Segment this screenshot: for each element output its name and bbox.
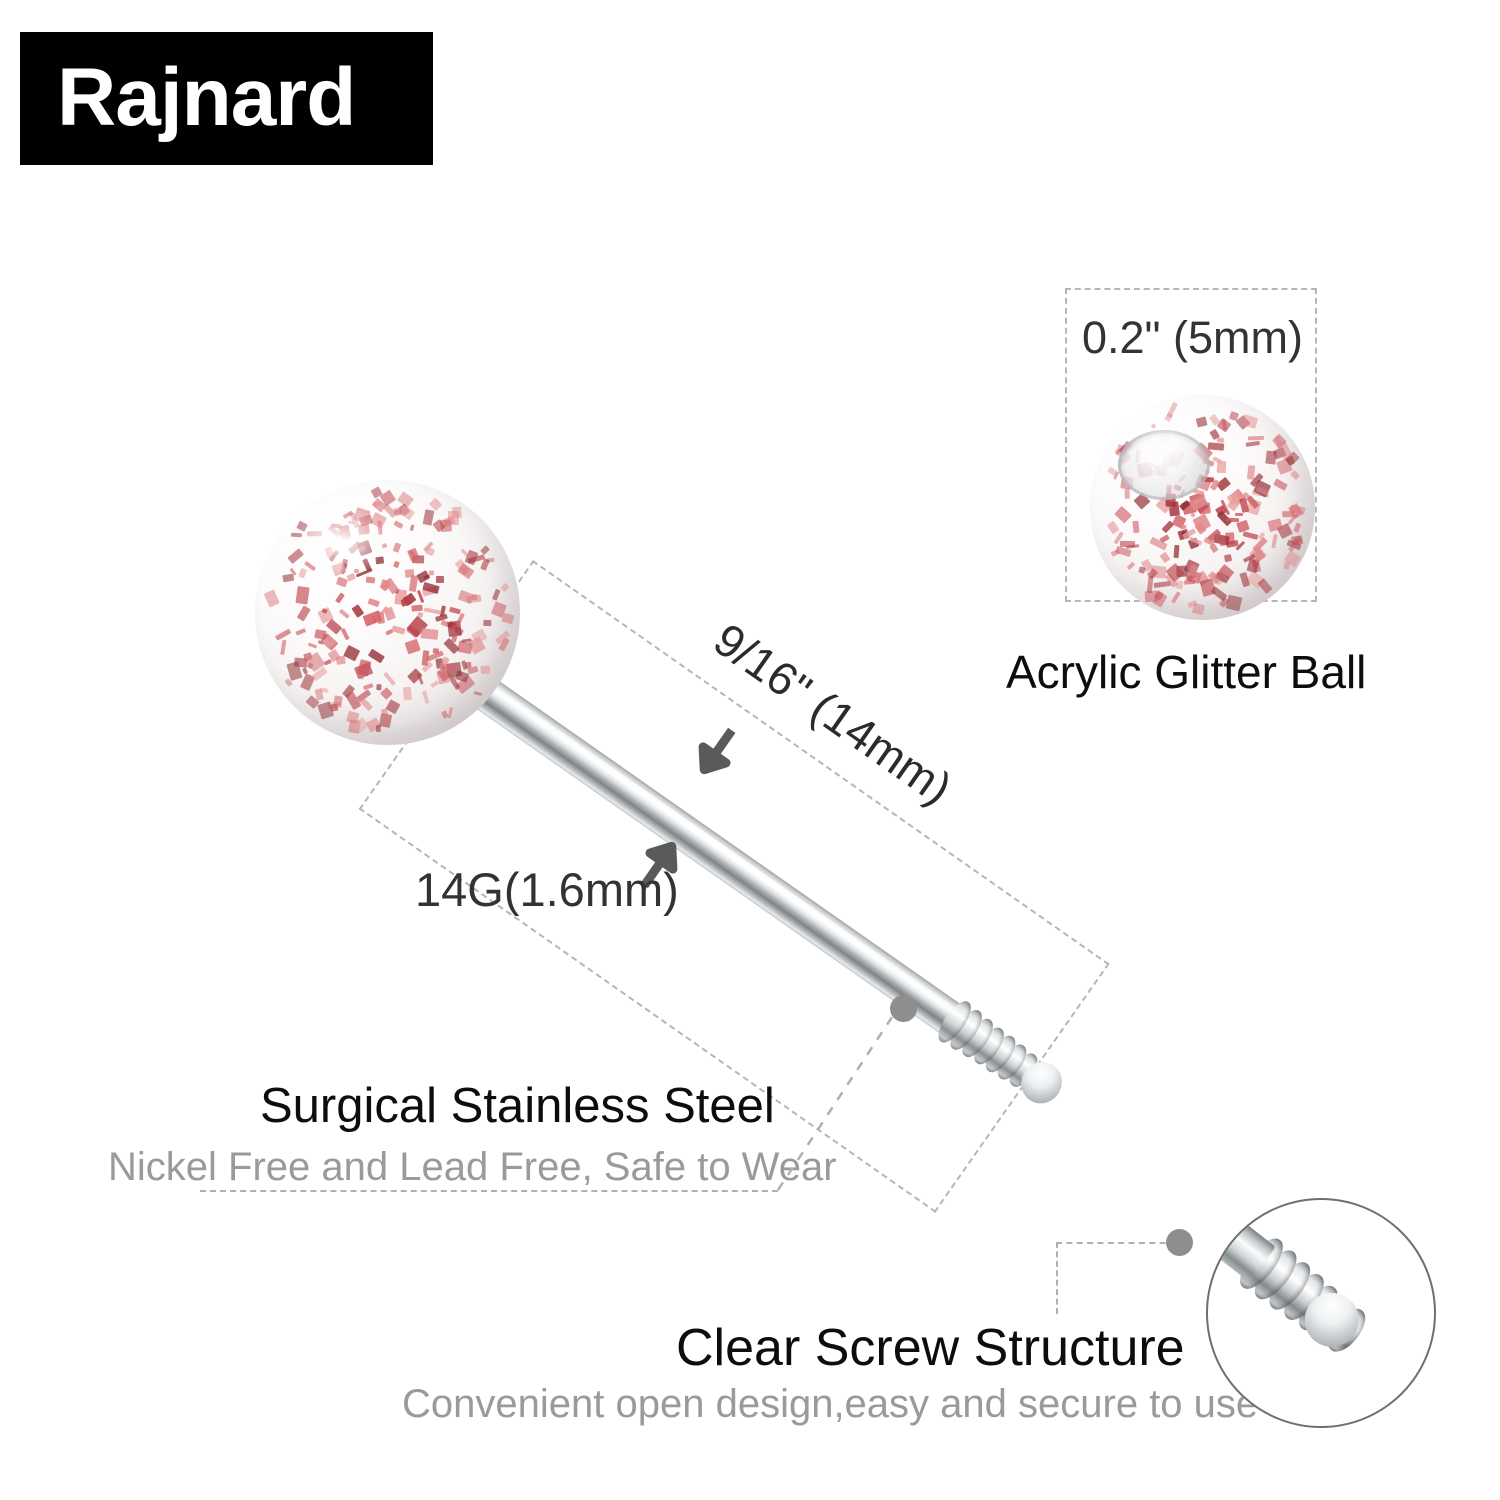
glitter-flake [1126, 443, 1137, 452]
glitter-flake [1139, 566, 1146, 573]
glitter-flake [331, 524, 342, 529]
glitter-flake [1248, 436, 1264, 441]
screw-magnifier-content [1206, 1198, 1397, 1385]
glitter-flake [1237, 520, 1251, 533]
glitter-flake [354, 508, 371, 525]
glitter-flake [375, 557, 384, 565]
glitter-flake [342, 511, 353, 520]
glitter-flake [393, 561, 400, 569]
screw-leader-horizontal [1056, 1242, 1176, 1244]
glitter-flake [297, 605, 311, 621]
glitter-flake [1151, 446, 1169, 459]
glitter-flake [346, 573, 356, 582]
glitter-flake [337, 525, 350, 537]
glitter-flake [1150, 462, 1164, 476]
glitter-flake [403, 687, 412, 701]
glitter-flake [404, 639, 420, 654]
glitter-flake [1124, 488, 1130, 498]
glitter-flake [409, 525, 414, 532]
glitter-flake [1193, 513, 1211, 531]
glitter-flake [481, 666, 490, 674]
glitter-flake [354, 568, 359, 573]
glitter-flake [385, 628, 393, 635]
glitter-flake [433, 648, 440, 654]
glitter-flake [474, 691, 482, 696]
glitter-flake [1226, 595, 1243, 612]
glitter-flake [348, 520, 355, 525]
glitter-flake [1243, 531, 1259, 540]
material-title: Surgical Stainless Steel [260, 1078, 775, 1134]
glitter-flake [358, 524, 370, 535]
glitter-flake [340, 563, 348, 575]
glitter-flake [368, 598, 380, 607]
glitter-flake [340, 628, 349, 641]
glitter-flake [1273, 479, 1287, 491]
glitter-flake [391, 625, 405, 634]
glitter-flake [480, 559, 490, 571]
glitter-flake [329, 550, 340, 563]
glitter-flake [363, 610, 383, 626]
glitter-flake [1291, 535, 1303, 545]
glitter-flake [326, 618, 342, 634]
glitter-flake [451, 633, 458, 643]
screw-subtitle: Convenient open design,easy and secure t… [402, 1382, 1258, 1427]
acrylic-glitter-ball-caption: Acrylic Glitter Ball [1006, 645, 1366, 699]
glitter-flake [1126, 562, 1135, 570]
glitter-flake [348, 541, 361, 554]
glitter-flake [425, 547, 435, 557]
glitter-flake [458, 563, 475, 579]
glitter-flake [1271, 534, 1278, 549]
glitter-flake [383, 671, 396, 685]
glitter-flake [377, 521, 382, 536]
screw-anchor-dot [1166, 1229, 1193, 1256]
glitter-flake [359, 697, 373, 711]
glitter-flake [1171, 453, 1175, 465]
glitter-flake [448, 707, 453, 718]
glitter-flake [333, 695, 343, 706]
glitter-flake [1210, 544, 1219, 554]
ball-dimension-label: 0.2" (5mm) [1082, 312, 1303, 364]
glitter-flake [295, 586, 309, 604]
glitter-flake [1160, 432, 1168, 446]
glitter-flake [480, 545, 490, 555]
brand-name: Rajnard [57, 48, 417, 148]
glitter-flake [420, 628, 438, 640]
glitter-flake [308, 642, 317, 648]
glitter-flake [500, 583, 509, 592]
material-leader-horizontal [200, 1190, 778, 1192]
glitter-flake [376, 725, 381, 732]
glitter-flake [483, 620, 492, 627]
glitter-flake [1174, 545, 1180, 558]
glitter-flake [324, 659, 332, 666]
glitter-flake [1166, 401, 1177, 418]
glitter-flake [263, 590, 280, 609]
glitter-flake [307, 531, 322, 536]
glitter-flake [1169, 449, 1186, 467]
glitter-flake [1217, 437, 1224, 443]
glitter-flake [383, 607, 396, 621]
glitter-flake [455, 613, 465, 627]
glitter-flake [1195, 416, 1207, 427]
glitter-flake [287, 548, 304, 564]
glitter-flake [1150, 443, 1164, 454]
glitter-flake [280, 639, 286, 654]
product-infographic: Rajnard 0.2" (5mm) Acrylic Glitter Ball … [0, 0, 1500, 1500]
acrylic-glitter-ball-detail [1090, 395, 1315, 620]
glitter-flake [324, 546, 335, 559]
glitter-flake [448, 511, 459, 525]
glitter-flake [1160, 552, 1170, 563]
glitter-flake [1114, 506, 1132, 524]
glitter-flake [1294, 523, 1302, 533]
glitter-flake [357, 540, 373, 556]
glitter-flake [1120, 541, 1135, 547]
material-subtitle: Nickel Free and Lead Free, Safe to Wear [108, 1145, 837, 1190]
glitter-flake [298, 568, 307, 579]
glitter-flake [350, 513, 360, 529]
glitter-flake [1224, 554, 1232, 562]
material-anchor-dot [890, 995, 917, 1022]
glitter-flake [340, 525, 351, 540]
glitter-flake [1111, 549, 1120, 557]
glitter-flake [380, 687, 392, 699]
glitter-flake [291, 533, 302, 538]
glitter-flake [381, 543, 387, 549]
glitter-flake [416, 570, 430, 583]
glitter-flake [1246, 441, 1260, 447]
glitter-flake [424, 608, 441, 616]
glitter-flake [1150, 423, 1156, 429]
glitter-flake [341, 559, 348, 569]
glitter-flake [1150, 470, 1154, 474]
glitter-flake [339, 608, 350, 618]
glitter-flake [1171, 591, 1181, 603]
glitter-flake [336, 593, 346, 604]
glitter-flake [421, 690, 429, 704]
gauge-label: 14G(1.6mm) [415, 862, 679, 917]
gauge-arrow-upper [693, 722, 743, 777]
glitter-flake [1155, 463, 1168, 476]
ball-socket-hole [1118, 430, 1210, 500]
glitter-flake [400, 598, 411, 607]
glitter-flake [359, 545, 366, 552]
glitter-flake [436, 576, 444, 583]
glitter-flake [359, 514, 373, 526]
glitter-flake [344, 645, 361, 661]
glitter-flake [1257, 578, 1272, 594]
glitter-flake [328, 525, 341, 537]
glitter-flake [376, 685, 381, 691]
glitter-flake [331, 562, 346, 576]
acrylic-glitter-ball-main [255, 480, 520, 745]
glitter-flake [448, 607, 460, 615]
glitter-flake [365, 577, 375, 584]
glitter-flake [392, 542, 400, 552]
glitter-flake [1161, 453, 1177, 468]
glitter-flake [394, 509, 402, 517]
glitter-flake [296, 628, 306, 635]
glitter-flake [1132, 521, 1139, 533]
glitter-flake [1208, 442, 1224, 451]
glitter-flake [393, 520, 403, 528]
screw-leader-vertical [1056, 1242, 1058, 1314]
screw-magnifier [1206, 1198, 1436, 1428]
glitter-flake [501, 613, 514, 625]
glitter-flake [412, 605, 423, 612]
glitter-flake [492, 589, 501, 601]
glitter-flake [1220, 541, 1226, 546]
glitter-flake [1107, 521, 1120, 535]
screw-title: Clear Screw Structure [676, 1318, 1185, 1378]
glitter-flake [296, 520, 308, 531]
glitter-flake [1290, 470, 1300, 480]
glitter-flake [1235, 513, 1243, 516]
glitter-flake [417, 611, 423, 617]
material-leader-diagonal [770, 1000, 930, 1200]
glitter-flake [1136, 449, 1141, 463]
glitter-flake [429, 570, 434, 576]
